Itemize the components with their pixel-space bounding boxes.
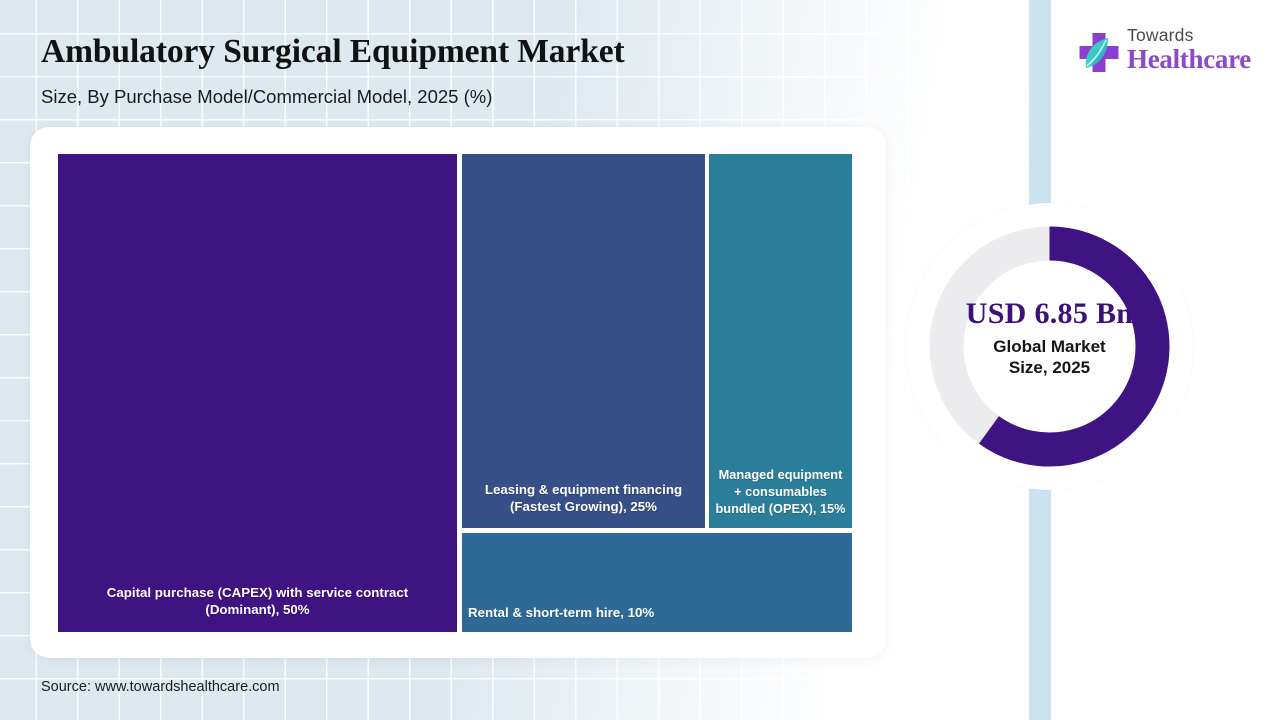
treemap-tile-managed[interactable]: Managed equipment + consumables bundled … <box>709 154 852 528</box>
page-title: Ambulatory Surgical Equipment Market <box>41 33 625 71</box>
source-note: Source: www.towardshealthcare.com <box>41 679 280 695</box>
treemap-tile-label: Capital purchase (CAPEX) with service co… <box>58 584 457 619</box>
market-size-caption-line1: Global Market <box>949 336 1150 357</box>
treemap-chart: Capital purchase (CAPEX) with service co… <box>58 154 852 632</box>
treemap-tile-rental[interactable]: Rental & short-term hire, 10% <box>462 533 852 632</box>
donut-center-labels: USD 6.85 Bn Global Market Size, 2025 <box>949 298 1150 408</box>
treemap-tile-capex[interactable]: Capital purchase (CAPEX) with service co… <box>58 154 457 632</box>
brand-name-line2: Healthcare <box>1127 45 1262 73</box>
page-subtitle: Size, By Purchase Model/Commercial Model… <box>41 86 492 108</box>
cross-leaf-icon <box>1075 29 1123 77</box>
market-size-caption: Global Market Size, 2025 <box>949 336 1150 378</box>
market-size-value: USD 6.85 Bn <box>949 298 1150 329</box>
market-size-caption-line2: Size, 2025 <box>949 357 1150 378</box>
treemap-tile-label: Managed equipment + consumables bundled … <box>709 466 852 517</box>
brand-logo-text: Towards Healthcare <box>1127 25 1262 81</box>
market-size-donut: USD 6.85 Bn Global Market Size, 2025 <box>906 203 1193 490</box>
brand-logo: Towards Healthcare <box>1075 25 1260 83</box>
treemap-tile-leasing[interactable]: Leasing & equipment financing (Fastest G… <box>462 154 705 528</box>
treemap-tile-label: Rental & short-term hire, 10% <box>462 604 852 622</box>
brand-name-line1: Towards <box>1127 25 1262 45</box>
treemap-tile-label: Leasing & equipment financing (Fastest G… <box>462 481 705 516</box>
